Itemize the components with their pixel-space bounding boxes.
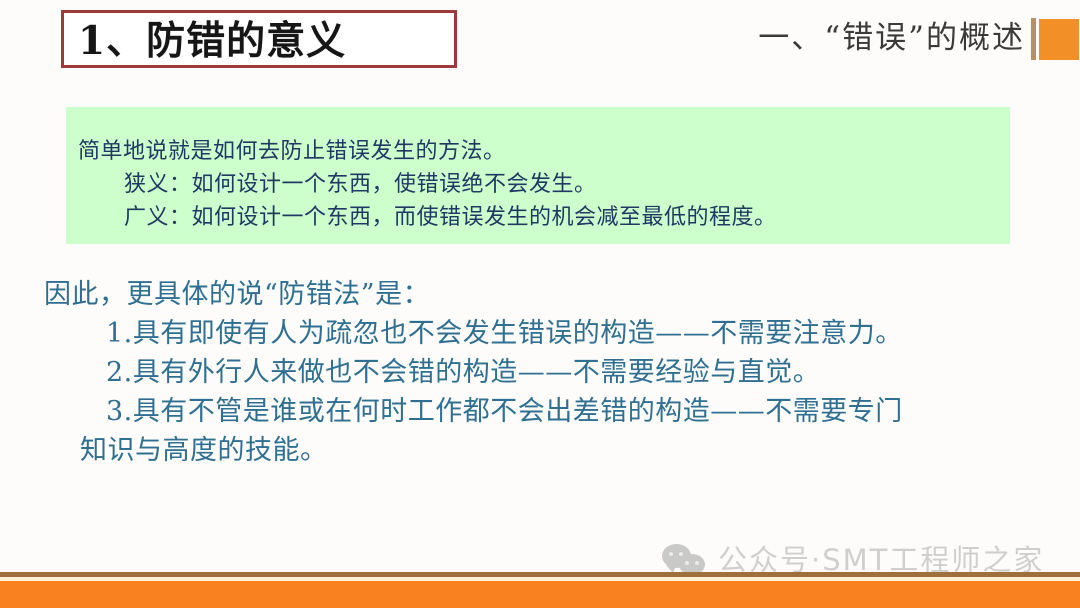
body-line-item-3-continued: 知识与高度的技能。 <box>44 431 1054 470</box>
slide-title-box: 1、防错的意义 <box>61 10 457 68</box>
body-line-intro: 因此，更具体的说“防错法”是： <box>44 275 1054 314</box>
definition-highlight-box: 简单地说就是如何去防止错误发生的方法。 狭义：如何设计一个东西，使错误绝不会发生… <box>66 107 1010 244</box>
footer-orange-band <box>0 581 1080 608</box>
header-orange-square-decoration <box>1039 19 1079 60</box>
section-label: 一、“错误”的概述 <box>758 18 1025 58</box>
body-line-item-3: 3.具有不管是谁或在何时工作都不会出差错的构造——不需要专门 <box>44 392 1054 431</box>
definition-text-group: 简单地说就是如何去防止错误发生的方法。 狭义：如何设计一个东西，使错误绝不会发生… <box>78 135 1004 234</box>
wechat-dot <box>679 552 683 556</box>
body-line-item-1: 1.具有即使有人为疏忽也不会发生错误的构造——不需要注意力。 <box>44 314 1054 353</box>
definition-line-summary: 简单地说就是如何去防止错误发生的方法。 <box>78 135 1004 168</box>
header-tan-bar-decoration <box>1031 18 1036 60</box>
definition-line-broad: 广义：如何设计一个东西，而使错误发生的机会减至最低的程度。 <box>78 201 1004 234</box>
body-text-group: 因此，更具体的说“防错法”是： 1.具有即使有人为疏忽也不会发生错误的构造——不… <box>44 275 1054 470</box>
body-line-item-2: 2.具有外行人来做也不会错的构造——不需要经验与直觉。 <box>44 353 1054 392</box>
slide-title-text: 1、防错的意义 <box>78 15 346 67</box>
slide-canvas: 1、防错的意义 一、“错误”的概述 简单地说就是如何去防止错误发生的方法。 狭义… <box>0 0 1080 608</box>
wechat-dot <box>669 552 673 556</box>
wechat-dot <box>685 561 689 565</box>
definition-line-narrow: 狭义：如何设计一个东西，使错误绝不会发生。 <box>78 168 1004 201</box>
wechat-dot <box>695 561 699 565</box>
